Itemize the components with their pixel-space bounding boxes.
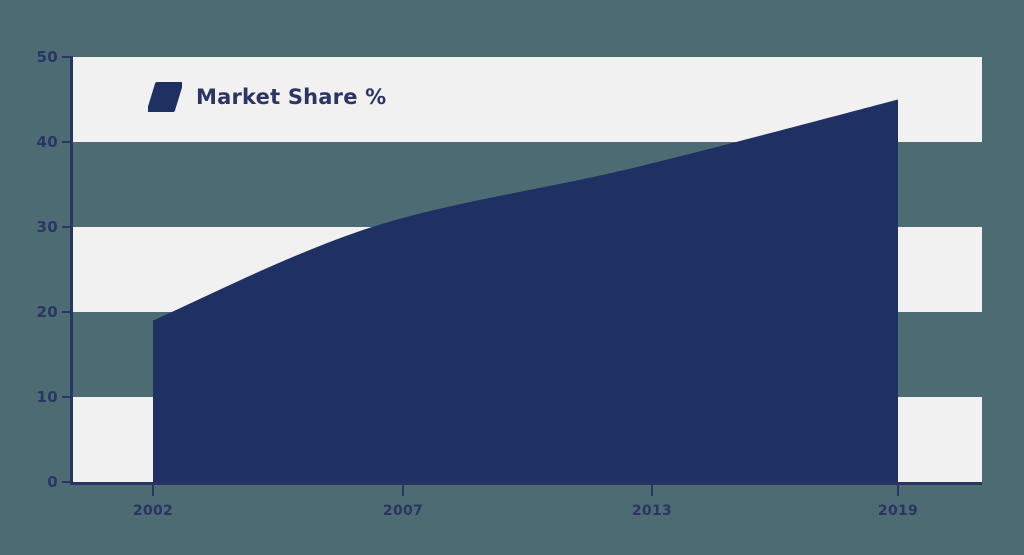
plot-band-30-20	[72, 227, 982, 312]
x-tick-label-2013: 2013	[612, 503, 692, 519]
x-tick-mark-2019	[897, 485, 899, 496]
plot-band-10-0	[72, 397, 982, 482]
y-tick-mark-0	[62, 481, 73, 483]
y-tick-mark-40	[62, 141, 73, 143]
y-tick-label-10: 10	[10, 388, 58, 406]
y-tick-label-20: 20	[10, 303, 58, 321]
x-tick-mark-2013	[651, 485, 653, 496]
x-tick-label-2002: 2002	[113, 503, 193, 519]
legend-marker-icon	[148, 82, 182, 112]
y-tick-mark-30	[62, 226, 73, 228]
y-tick-label-50: 50	[10, 48, 58, 66]
y-tick-label-0: 0	[10, 473, 58, 491]
x-tick-label-2007: 2007	[363, 503, 443, 519]
y-tick-mark-20	[62, 311, 73, 313]
legend[interactable]: Market Share %	[148, 82, 386, 112]
y-tick-mark-50	[62, 56, 73, 58]
y-tick-label-40: 40	[10, 133, 58, 151]
x-tick-mark-2007	[402, 485, 404, 496]
y-axis-line	[70, 57, 73, 485]
x-axis-line	[70, 482, 982, 485]
x-tick-label-2019: 2019	[858, 503, 938, 519]
area-chart: 50 40 30 20 10 0 2002 2007 2013 2019 Mar…	[0, 0, 1024, 555]
y-tick-mark-10	[62, 396, 73, 398]
y-tick-label-30: 30	[10, 218, 58, 236]
x-tick-mark-2002	[152, 485, 154, 496]
legend-label-market-share: Market Share %	[196, 85, 386, 109]
